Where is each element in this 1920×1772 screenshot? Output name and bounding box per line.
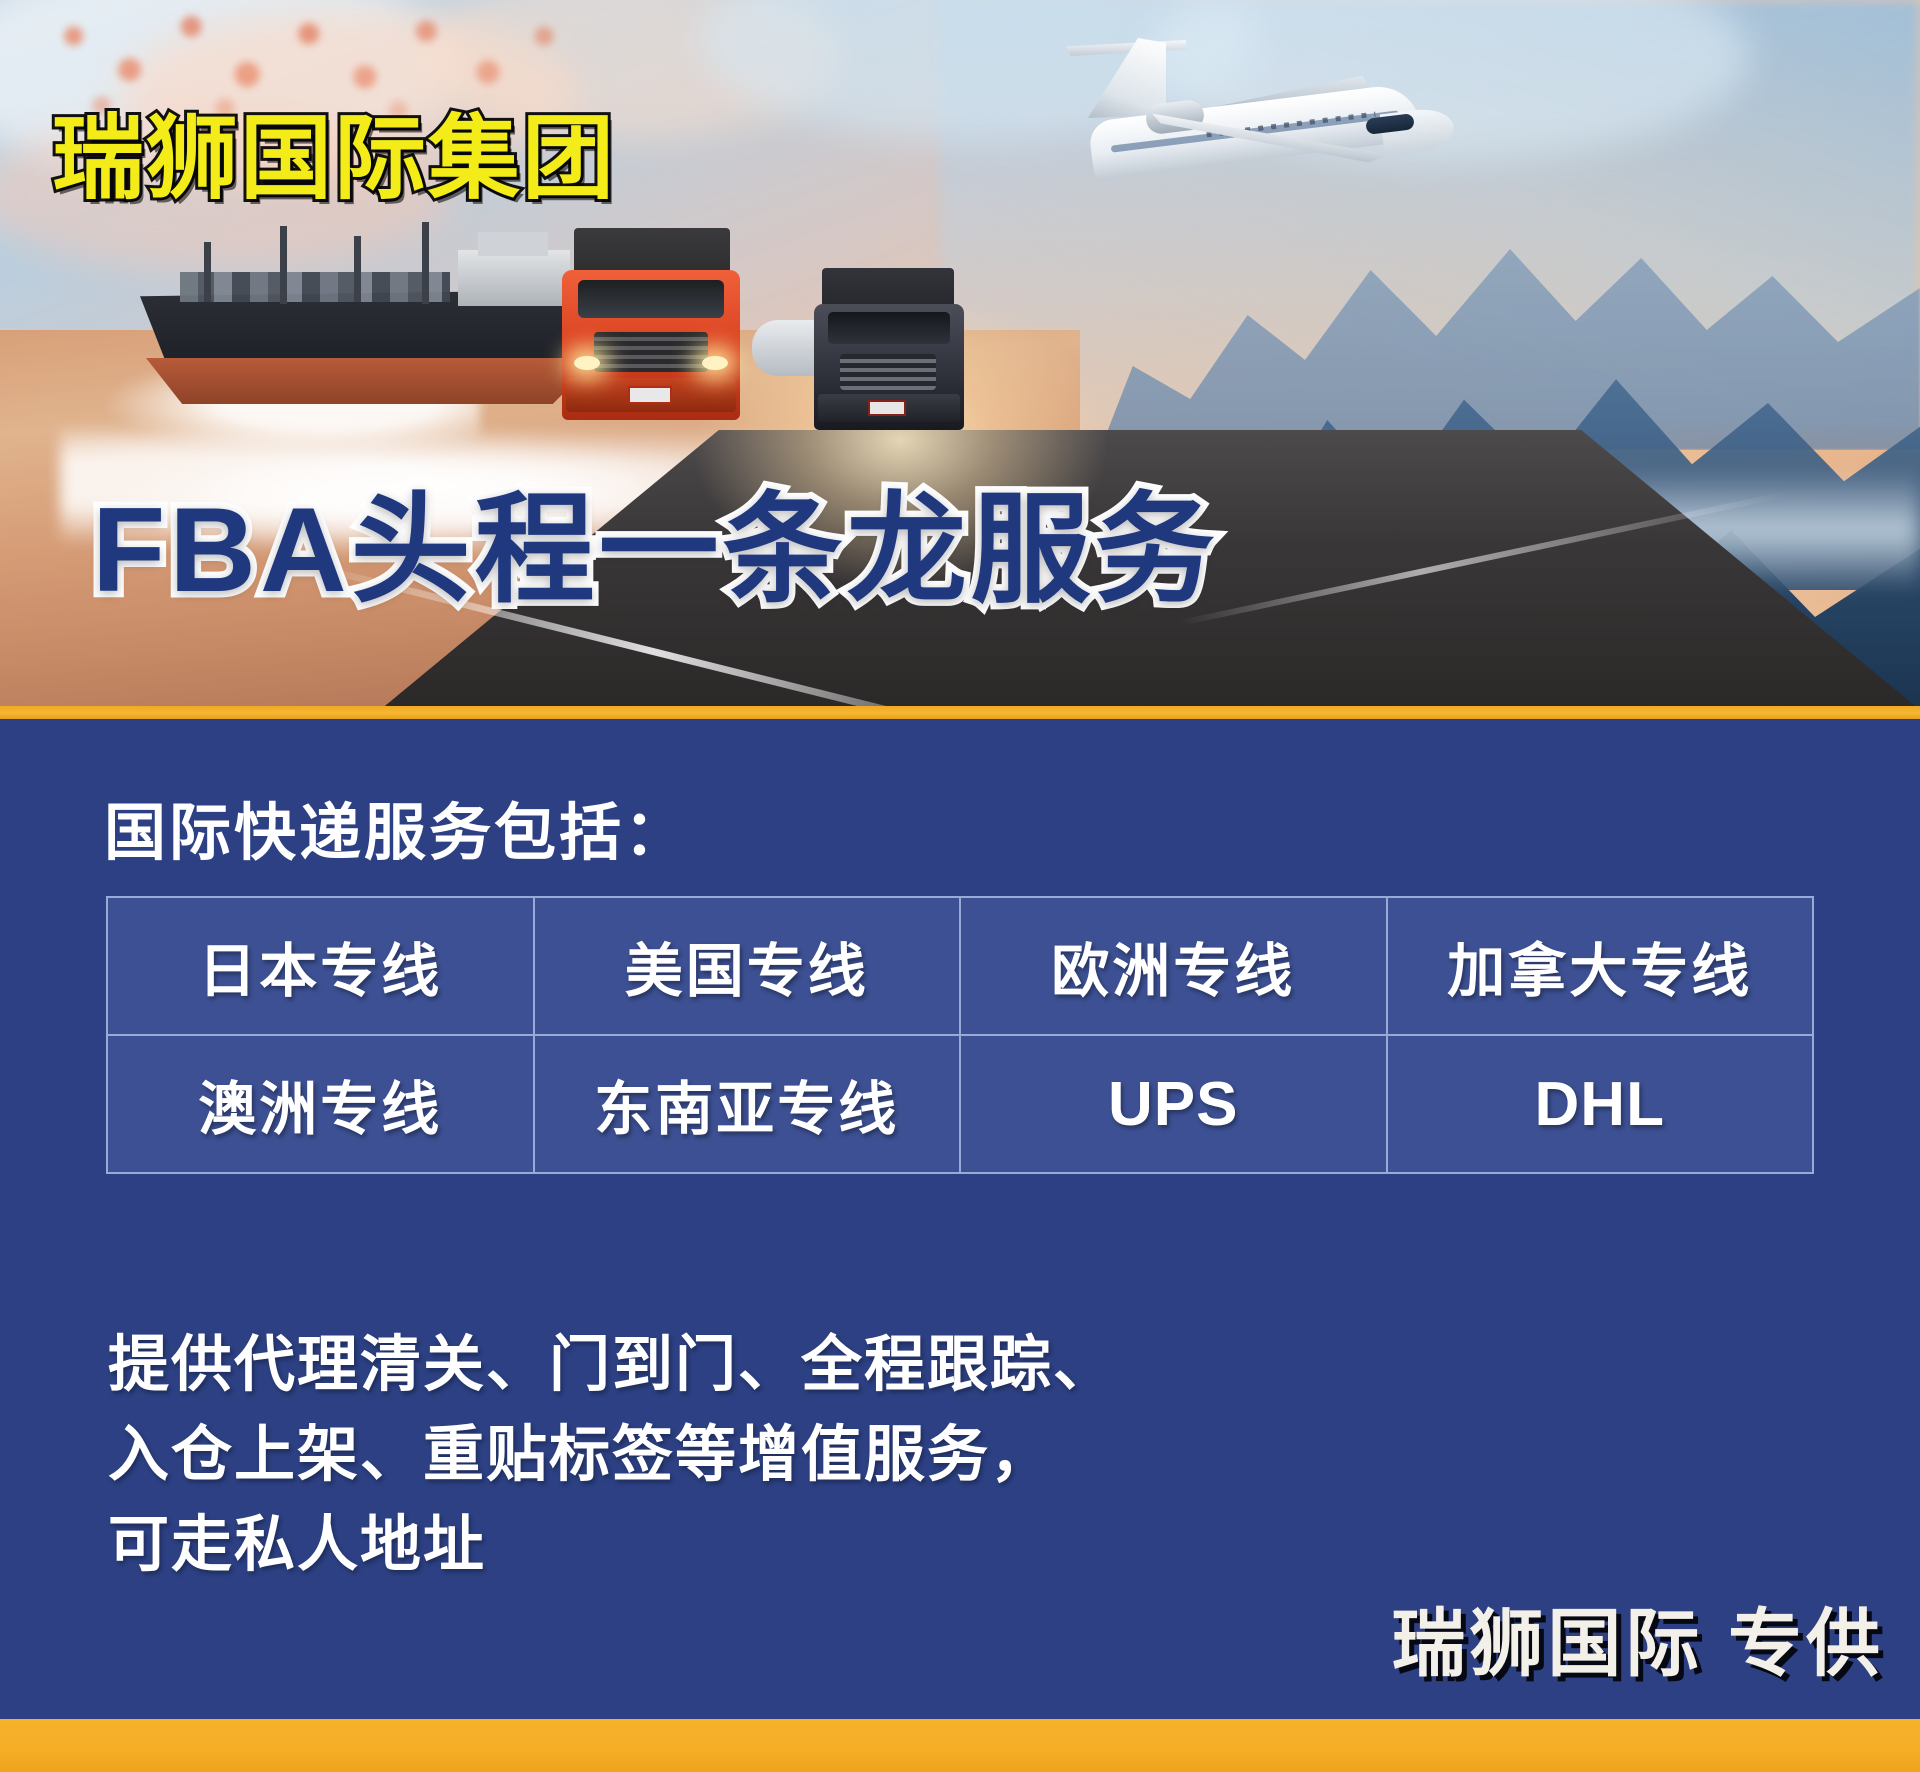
ship-hull-waterline — [146, 358, 598, 404]
company-logo-text: 瑞狮国际集团 — [52, 84, 616, 217]
body-line-2: 入仓上架、重贴标签等增值服务， — [108, 1409, 1116, 1499]
table-cell-usa[interactable]: 美国专线 — [534, 897, 961, 1035]
truck-headlight — [702, 356, 728, 370]
ship-crane — [422, 222, 429, 304]
gold-divider-bar — [0, 706, 1920, 719]
table-cell-ups[interactable]: UPS — [960, 1035, 1387, 1173]
gold-footer-bar — [0, 1719, 1920, 1772]
ship-crane — [280, 226, 287, 304]
ship-superstructure — [458, 250, 570, 306]
ship-bridge — [478, 232, 548, 256]
airplane-icon — [1030, 30, 1450, 230]
section-title: 国际快递服务包括： — [104, 782, 689, 872]
table-cell-europe[interactable]: 欧洲专线 — [960, 897, 1387, 1035]
truck-license-plate — [628, 386, 672, 404]
hero-headline: FBA头程一条龙服务 — [92, 452, 1219, 626]
truck-grille — [840, 354, 936, 390]
table-cell-dhl[interactable]: DHL — [1387, 1035, 1814, 1173]
table-cell-japan[interactable]: 日本专线 — [107, 897, 534, 1035]
services-table: 日本专线 美国专线 欧洲专线 加拿大专线 澳洲专线 东南亚专线 UPS DHL — [106, 896, 1814, 1174]
red-truck-icon — [556, 228, 746, 440]
table-row: 日本专线 美国专线 欧洲专线 加拿大专线 — [107, 897, 1813, 1035]
table-cell-canada[interactable]: 加拿大专线 — [1387, 897, 1814, 1035]
truck-windshield — [828, 312, 950, 344]
truck-grille — [594, 332, 708, 372]
table-row: 澳洲专线 东南亚专线 UPS DHL — [107, 1035, 1813, 1173]
truck-license-plate — [868, 400, 906, 416]
dark-truck-icon — [810, 268, 970, 448]
truck-headlight — [574, 356, 600, 370]
ship-crane — [204, 242, 211, 302]
jet-horizontal-stabilizer — [1066, 40, 1186, 56]
table-cell-australia[interactable]: 澳洲专线 — [107, 1035, 534, 1173]
ship-crane — [354, 236, 361, 302]
brand-credit-text: 瑞狮国际 专供 — [1391, 1584, 1884, 1691]
truck-windshield — [578, 280, 724, 318]
hero-photo: 瑞狮国际集团 FBA头程一条龙服务 — [0, 0, 1920, 706]
table-cell-southeast-asia[interactable]: 东南亚专线 — [534, 1035, 961, 1173]
ship-containers — [180, 272, 450, 302]
value-added-services-text: 提供代理清关、门到门、全程跟踪、 入仓上架、重贴标签等增值服务， 可走私人地址 — [108, 1319, 1116, 1589]
promo-banner: 瑞狮国际集团 FBA头程一条龙服务 国际快递服务包括： 日本专线 美国专线 欧洲… — [0, 0, 1920, 1772]
body-line-3: 可走私人地址 — [108, 1499, 1116, 1589]
body-line-1: 提供代理清关、门到门、全程跟踪、 — [108, 1319, 1116, 1409]
info-panel: 国际快递服务包括： 日本专线 美国专线 欧洲专线 加拿大专线 澳洲专线 东南亚专… — [0, 719, 1920, 1719]
